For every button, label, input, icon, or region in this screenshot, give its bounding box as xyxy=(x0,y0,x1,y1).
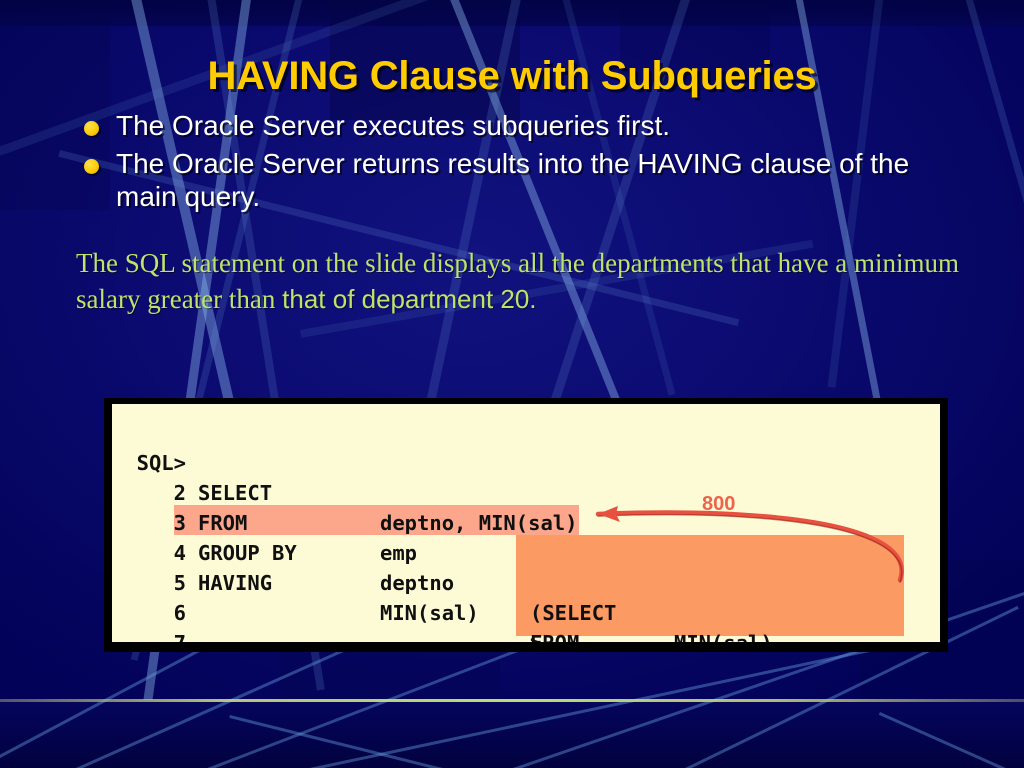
page-title: HAVING Clause with Subqueries xyxy=(0,54,1024,99)
code-keyword: GROUP BY xyxy=(198,538,297,568)
code-subquery-argument: MIN(sal) xyxy=(674,628,773,642)
background-top-band xyxy=(0,0,1024,26)
code-line-number: 7 xyxy=(124,628,186,642)
bullet-dot-icon xyxy=(84,159,99,174)
code-argument: MIN(sal) xyxy=(380,598,479,628)
paragraph-sans-text: that of department 20. xyxy=(282,284,536,314)
code-subquery-keyword: (SELECT xyxy=(530,598,616,628)
code-line: SQL> SELECT deptno, MIN(sal) xyxy=(112,418,211,448)
code-argument: deptno xyxy=(380,568,454,598)
sql-code-block: SQL> SELECT deptno, MIN(sal) 2 FROM emp … xyxy=(112,404,940,642)
code-line-having: 4 HAVING MIN(sal) > xyxy=(112,508,211,538)
code-line-subquery: 6 FROM emp xyxy=(112,568,211,598)
code-lines: SQL> SELECT deptno, MIN(sal) 2 FROM emp … xyxy=(112,404,940,642)
list-item: The Oracle Server executes subqueries fi… xyxy=(84,110,944,142)
bullet-text: The Oracle Server executes subqueries fi… xyxy=(116,110,670,142)
code-line: 2 FROM emp xyxy=(112,448,211,478)
accent-rule xyxy=(0,699,1024,702)
explanatory-paragraph: The SQL statement on the slide displays … xyxy=(76,246,976,317)
code-subquery-keyword: FROM xyxy=(530,628,579,642)
bullet-list: The Oracle Server executes subqueries fi… xyxy=(84,110,944,219)
code-argument: deptno, MIN(sal) xyxy=(380,508,577,538)
code-line-subquery: 7 WHERE deptno = 20); xyxy=(112,598,211,628)
bullet-dot-icon xyxy=(84,121,99,136)
background-lower-panel xyxy=(0,700,1024,768)
slide-canvas: HAVING Clause with Subqueries The Oracle… xyxy=(0,0,1024,768)
list-item: The Oracle Server returns results into t… xyxy=(84,148,944,213)
annotation-value: 800 xyxy=(702,493,735,516)
code-line: 3 GROUP BY deptno xyxy=(112,478,211,508)
bullet-text: The Oracle Server returns results into t… xyxy=(116,148,944,213)
code-line-subquery: 5 (SELECT MIN(sal) xyxy=(112,538,211,568)
code-argument: emp xyxy=(380,538,417,568)
